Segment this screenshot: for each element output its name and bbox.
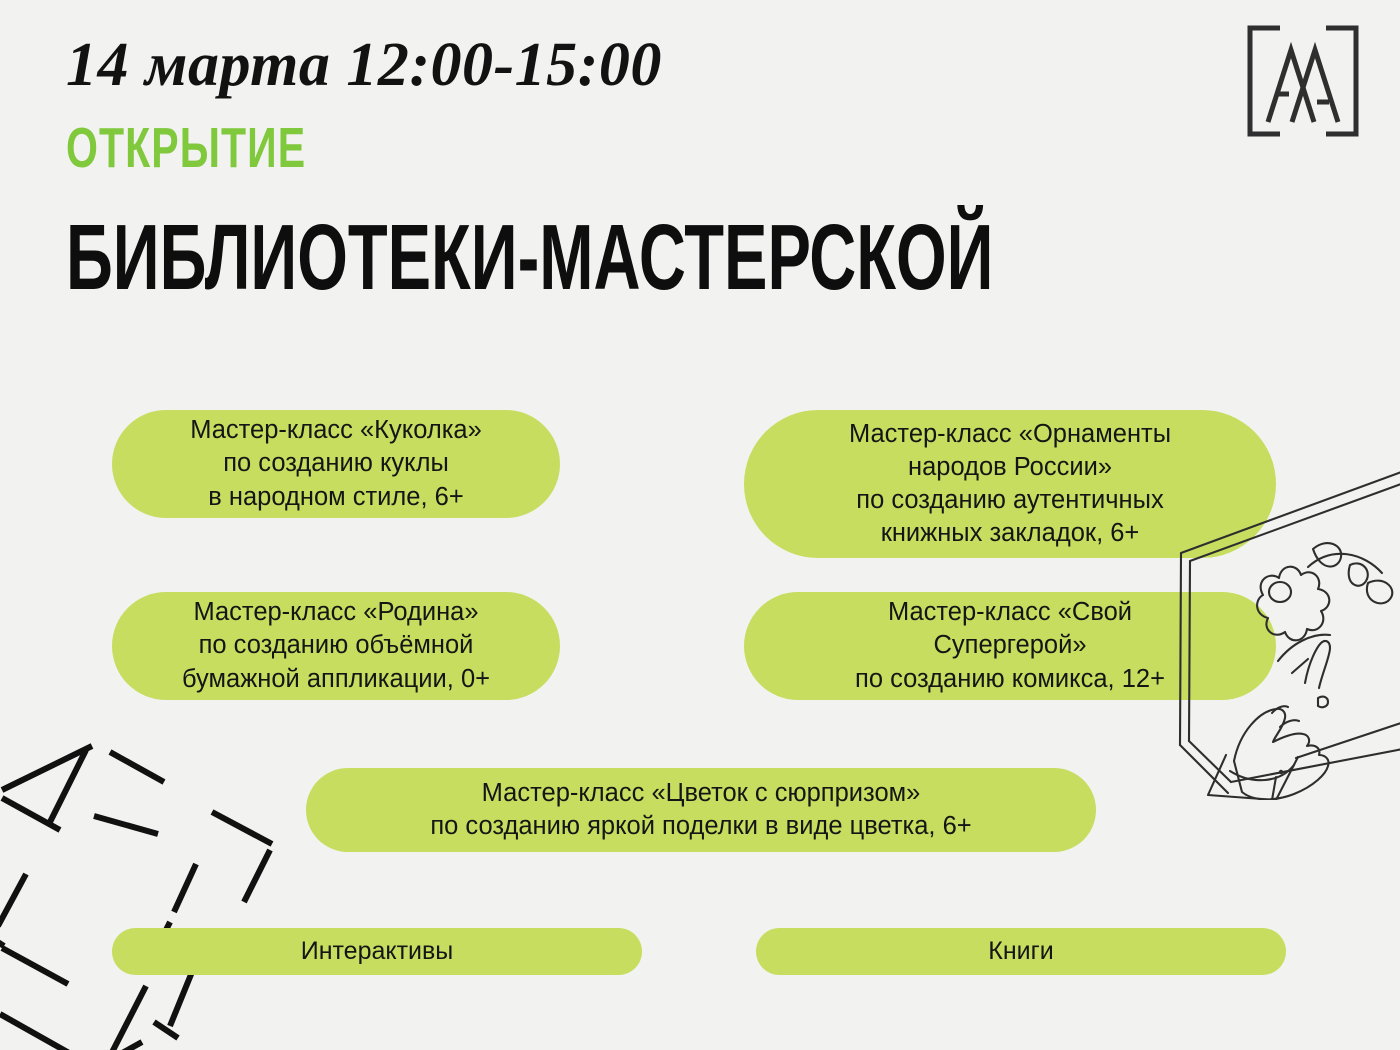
program-pill-label: Мастер-класс «Родина»по созданию объёмно… [112,596,560,695]
program-pill-label: Мастер-класс «Орнаментынародов России»по… [744,418,1276,551]
program-pill-cvetok: Мастер-класс «Цветок с сюрпризом»по созд… [306,768,1096,852]
page-title: БИБЛИОТЕКИ-МАСТЕРСКОЙ [66,211,993,304]
program-pill-label: Мастер-класс «Цветок с сюрпризом»по созд… [306,777,1096,843]
program-pill-knigi: Книги [756,928,1286,975]
event-kicker-opening: ОТКРЫТИЕ [66,120,1020,177]
event-date-time: 14 марта 12:00-15:00 [66,34,1391,96]
poster-header: 14 марта 12:00-15:00 ОТКРЫТИЕ БИБЛИОТЕКИ… [66,34,1391,304]
program-pill-ornamenty: Мастер-класс «Орнаментынародов России»по… [744,410,1276,558]
program-pill-interaktivy: Интерактивы [112,928,642,975]
program-pill-label: Мастер-класс «Куколка»по созданию куклыв… [112,414,560,513]
program-pill-rodina: Мастер-класс «Родина»по созданию объёмно… [112,592,560,700]
program-pill-kukolka: Мастер-класс «Куколка»по созданию куклыв… [112,410,560,518]
program-pill-supergeroy: Мастер-класс «СвойСупергерой»по созданию… [744,592,1276,700]
program-pill-label: Интерактивы [112,935,642,968]
program-pill-label: Мастер-класс «СвойСупергерой»по созданию… [744,596,1276,695]
poster-canvas: 14 марта 12:00-15:00 ОТКРЫТИЕ БИБЛИОТЕКИ… [0,0,1400,1050]
program-pill-label: Книги [756,935,1286,968]
aa-monogram-logo [1242,22,1364,140]
deconstructed-cube-illustration [0,726,302,1050]
